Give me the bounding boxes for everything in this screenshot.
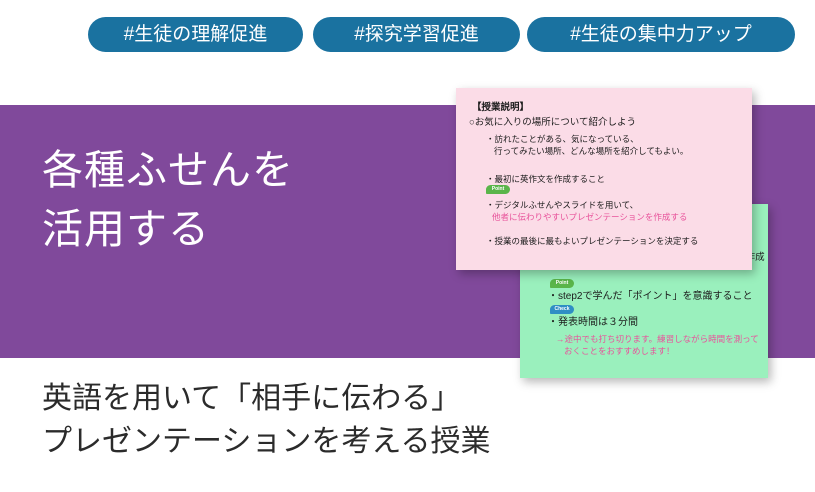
green-line-4: ・発表時間は３分間 — [548, 317, 638, 328]
pink-line-1: ○お気に入りの場所について紹介しよう — [469, 117, 636, 128]
pink-line-2: ・訪れたことがある、気になっている、 — [486, 134, 639, 145]
pink-line-7: ・授業の最後に最もよいプレゼンテーションを決定する — [486, 236, 698, 247]
tag-focus[interactable]: #生徒の集中力アップ — [527, 17, 795, 52]
tag-inquiry[interactable]: #探究学習促進 — [313, 17, 520, 52]
pink-line-4: ・最初に英作文を作成すること — [486, 174, 605, 185]
point-badge-icon: Point — [550, 279, 574, 288]
hashtag-bar: #生徒の理解促進 #探究学習促進 #生徒の集中力アップ — [0, 0, 815, 72]
check-badge-icon: Check — [550, 305, 574, 314]
green-line-5: →途中でも打ち切ります。練習しながら時間を測って — [556, 334, 759, 345]
slide-caption: 英語を用いて「相手に伝わる」 プレゼンテーションを考える授業 — [42, 378, 491, 463]
tag-understanding[interactable]: #生徒の理解促進 — [88, 17, 303, 52]
pink-line-6: 他者に伝わりやすいプレゼンテーションを作成する — [492, 212, 687, 223]
point-badge-icon: Point — [486, 185, 510, 194]
pink-line-5: ・デジタルふせんやスライドを用いて、 — [486, 200, 638, 211]
green-line-3: ・step2で学んだ「ポイント」を意識すること — [548, 291, 752, 302]
pink-note-heading: 【授業説明】 — [472, 102, 529, 113]
pink-note-body: 【授業説明】 ○お気に入りの場所について紹介しよう ・訪れたことがある、気になっ… — [456, 88, 752, 270]
pink-line-3: 行ってみたい場所、どんな場所を紹介してもよい。 — [494, 146, 688, 157]
page-title: 各種ふせんを 活用する — [42, 141, 294, 260]
slide-canvas: #生徒の理解促進 #探究学習促進 #生徒の集中力アップ 各種ふせんを 活用する … — [0, 0, 815, 492]
sticky-note-pink[interactable]: 【授業説明】 ○お気に入りの場所について紹介しよう ・訪れたことがある、気になっ… — [456, 88, 752, 270]
green-line-6: おくことをおすすめします！ — [564, 346, 675, 357]
